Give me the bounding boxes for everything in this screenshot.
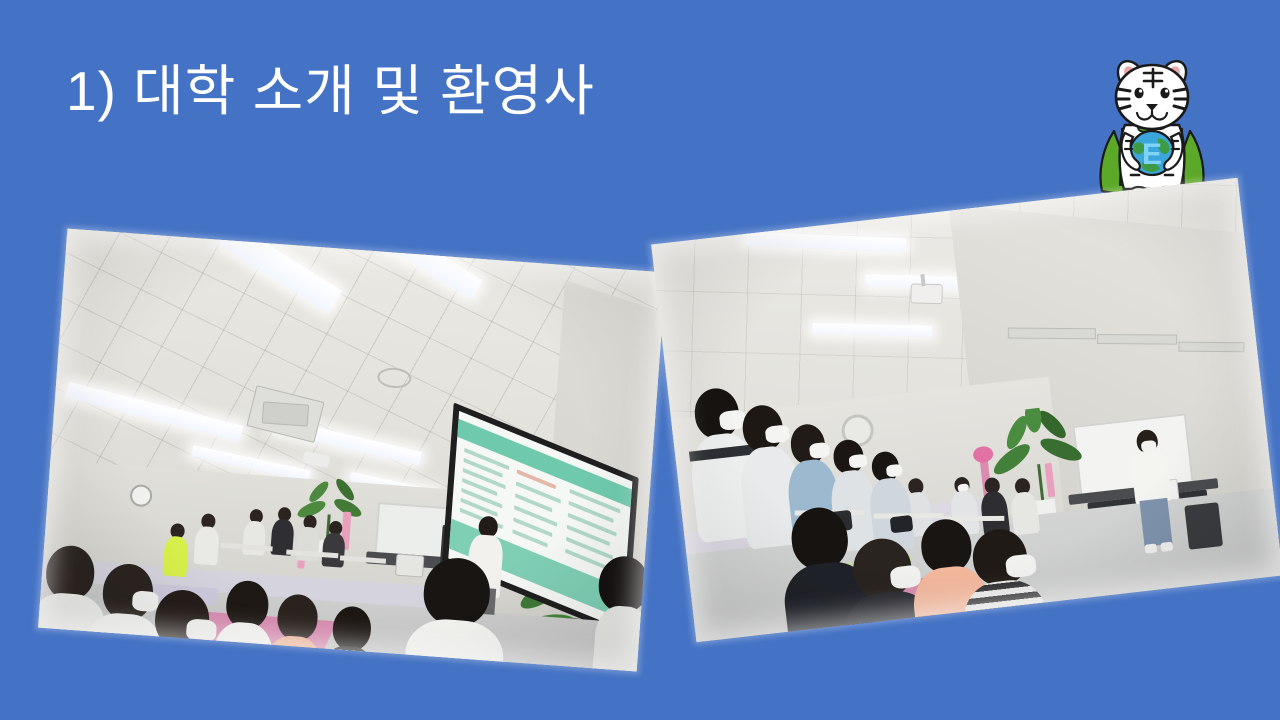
page-title: 1) 대학 소개 및 환영사 <box>66 56 595 126</box>
svg-text:E: E <box>1142 138 1162 171</box>
photo-orientation-session-audience <box>651 178 1280 642</box>
photo-orientation-session-wide <box>38 229 666 672</box>
presentation-slide: 1) 대학 소개 및 환영사 E <box>0 0 1280 720</box>
